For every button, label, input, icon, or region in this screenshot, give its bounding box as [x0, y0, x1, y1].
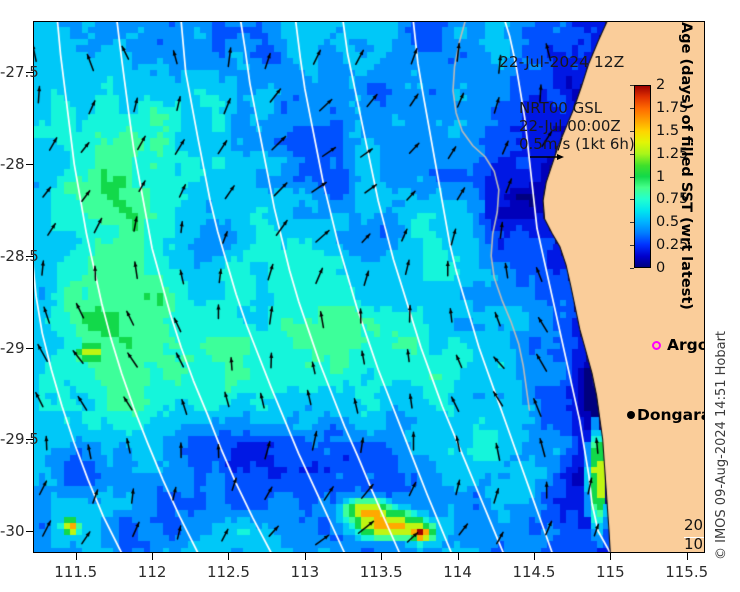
y-axis-tick [26, 164, 33, 165]
colorbar-tick-label: 1 [656, 169, 665, 185]
date-stamp-label: 22-Jul-2024 12Z [499, 53, 624, 71]
x-axis-tick [687, 553, 688, 560]
colorbar-tick [630, 268, 634, 269]
x-axis-label: 113 [291, 563, 320, 581]
x-axis-tick [305, 553, 306, 560]
x-axis-tick [458, 553, 459, 560]
x-axis-tick [152, 553, 153, 560]
x-axis-tick [381, 553, 382, 560]
x-axis-tick [610, 553, 611, 560]
map-plot-area: 22-Jul-2024 12Z NRT00 GSL 22-Jul 00:00Z … [33, 21, 705, 553]
y-axis-label: -28.5 [0, 247, 22, 265]
colorbar-tick-label: 2 [656, 77, 665, 93]
velocity-scale-label: 0.5m/s (1kt 6h) [519, 135, 635, 153]
y-axis-tick [26, 531, 33, 532]
bathy-200m-label: 200m [684, 516, 705, 535]
argo-label: Argo [667, 336, 705, 354]
colorbar-tick [630, 108, 634, 109]
colorbar-tick [630, 245, 634, 246]
bathymetry-legend: 200m 1000m [684, 516, 705, 553]
colorbar-tick [630, 199, 634, 200]
dongara-marker-icon [627, 411, 635, 419]
y-axis-label: -29.5 [0, 430, 22, 448]
x-axis-label: 112.5 [207, 563, 250, 581]
colorbar-title: Age (days) of filled SST (wrt latest) [676, 22, 694, 282]
x-axis-label: 115.5 [665, 563, 708, 581]
y-axis-label: -27.5 [0, 63, 22, 81]
colorbar-gradient [634, 85, 651, 268]
dongara-label: Dongara [637, 406, 705, 424]
x-axis-tick [76, 553, 77, 560]
x-axis-label: 113.5 [360, 563, 403, 581]
colorbar-tick-label: 0 [656, 260, 665, 276]
bathy-200m-swatch [684, 537, 705, 538]
velocity-source-label: NRT00 GSL [519, 99, 635, 117]
y-axis-label: -28 [0, 155, 22, 173]
x-axis-label: 114 [443, 563, 472, 581]
colorbar-tick [630, 177, 634, 178]
velocity-legend: NRT00 GSL 22-Jul 00:00Z 0.5m/s (1kt 6h) [519, 99, 635, 153]
velocity-time-label: 22-Jul 00:00Z [519, 117, 635, 135]
y-axis-label: -29 [0, 339, 22, 357]
credit-label: © IMOS 09-Aug-2024 14:51 Hobart [714, 280, 730, 560]
colorbar-tick [630, 131, 634, 132]
x-axis-label: 115 [596, 563, 625, 581]
sst-age-map-figure: 22-Jul-2024 12Z NRT00 GSL 22-Jul 00:00Z … [0, 0, 740, 592]
x-axis-label: 114.5 [512, 563, 555, 581]
y-axis-label: -30 [0, 522, 22, 540]
y-axis-tick [26, 348, 33, 349]
x-axis-label: 111.5 [54, 563, 97, 581]
x-axis-tick [534, 553, 535, 560]
x-axis-tick [228, 553, 229, 560]
reference-velocity-arrow-icon [530, 152, 564, 162]
x-axis-label: 112 [138, 563, 167, 581]
colorbar-tick [630, 85, 634, 86]
colorbar-tick [630, 154, 634, 155]
argo-marker-icon [652, 341, 661, 350]
colorbar-tick [630, 222, 634, 223]
